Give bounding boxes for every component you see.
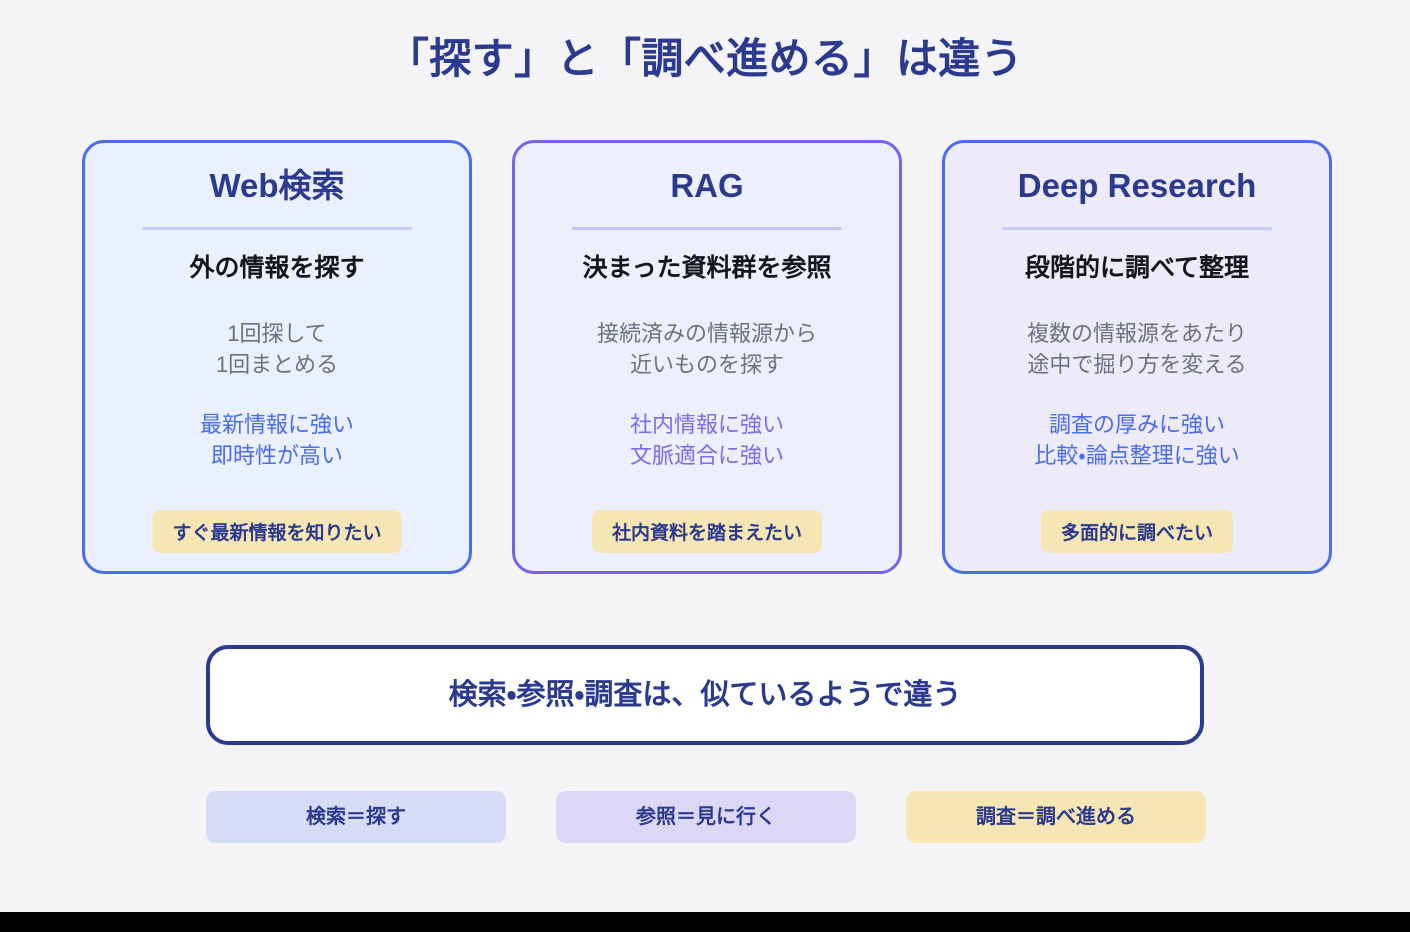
card-deep-research[interactable]: Deep Research 段階的に調べて整理 複数の情報源をあたり 途中で掘り… (942, 140, 1332, 574)
card-strength-line: 最新情報に強い (200, 409, 354, 440)
chip-reference[interactable]: 参照＝見に行く (556, 791, 856, 843)
card-description-line: 接続済みの情報源から (597, 318, 817, 349)
card-strengths: 調査の厚みに強い 比較・論点整理に強い (1034, 409, 1239, 471)
summary-box: 検索・参照・調査は、似ているようで違う (206, 645, 1204, 745)
card-description: 複数の情報源をあたり 途中で掘り方を変える (1027, 318, 1247, 380)
card-strength-line: 即時性が高い (200, 440, 354, 471)
slide-root: 「探す」と「調べ進める」は違う Web検索 外の情報を探す 1回探して 1回まと… (0, 0, 1410, 932)
card-description-line: 途中で掘り方を変える (1027, 349, 1247, 380)
keyword-chips-row: 検索＝探す 参照＝見に行く 調査＝調べ進める (206, 791, 1206, 843)
card-subheading: 外の情報を探す (189, 253, 364, 284)
card-heading: Web検索 (209, 167, 344, 205)
card-use-case-badge[interactable]: 多面的に調べたい (1041, 510, 1233, 553)
card-heading: Deep Research (1018, 167, 1256, 205)
card-description-line: 1回まとめる (216, 349, 338, 380)
card-heading: RAG (670, 167, 743, 205)
bottom-bar (0, 912, 1410, 932)
card-subheading: 段階的に調べて整理 (1025, 253, 1249, 284)
card-description: 接続済みの情報源から 近いものを探す (597, 318, 817, 380)
summary-text: 検索・参照・調査は、似ているようで違う (449, 678, 962, 713)
card-strength-line: 調査の厚みに強い (1034, 409, 1239, 440)
page-title: 「探す」と「調べ進める」は違う (0, 34, 1410, 84)
comparison-cards-row: Web検索 外の情報を探す 1回探して 1回まとめる 最新情報に強い 即時性が高… (82, 140, 1332, 574)
card-strength-line: 文脈適合に強い (630, 440, 784, 471)
chip-search[interactable]: 検索＝探す (206, 791, 506, 843)
card-use-case-badge[interactable]: 社内資料を踏まえたい (592, 510, 822, 553)
card-divider (142, 227, 412, 230)
card-divider (1002, 227, 1272, 230)
card-strengths: 最新情報に強い 即時性が高い (200, 409, 354, 471)
card-description-line: 複数の情報源をあたり (1027, 318, 1247, 349)
card-description-line: 近いものを探す (597, 349, 817, 380)
card-use-case-badge[interactable]: すぐ最新情報を知りたい (152, 510, 401, 553)
card-strengths: 社内情報に強い 文脈適合に強い (630, 409, 784, 471)
card-divider (572, 227, 842, 230)
card-subheading: 決まった資料群を参照 (582, 253, 831, 284)
card-description-line: 1回探して (216, 318, 338, 349)
chip-research[interactable]: 調査＝調べ進める (906, 791, 1206, 843)
card-rag[interactable]: RAG 決まった資料群を参照 接続済みの情報源から 近いものを探す 社内情報に強… (512, 140, 902, 574)
card-web-search[interactable]: Web検索 外の情報を探す 1回探して 1回まとめる 最新情報に強い 即時性が高… (82, 140, 472, 574)
card-strength-line: 比較・論点整理に強い (1034, 440, 1239, 471)
card-description: 1回探して 1回まとめる (216, 318, 338, 380)
card-strength-line: 社内情報に強い (630, 409, 784, 440)
